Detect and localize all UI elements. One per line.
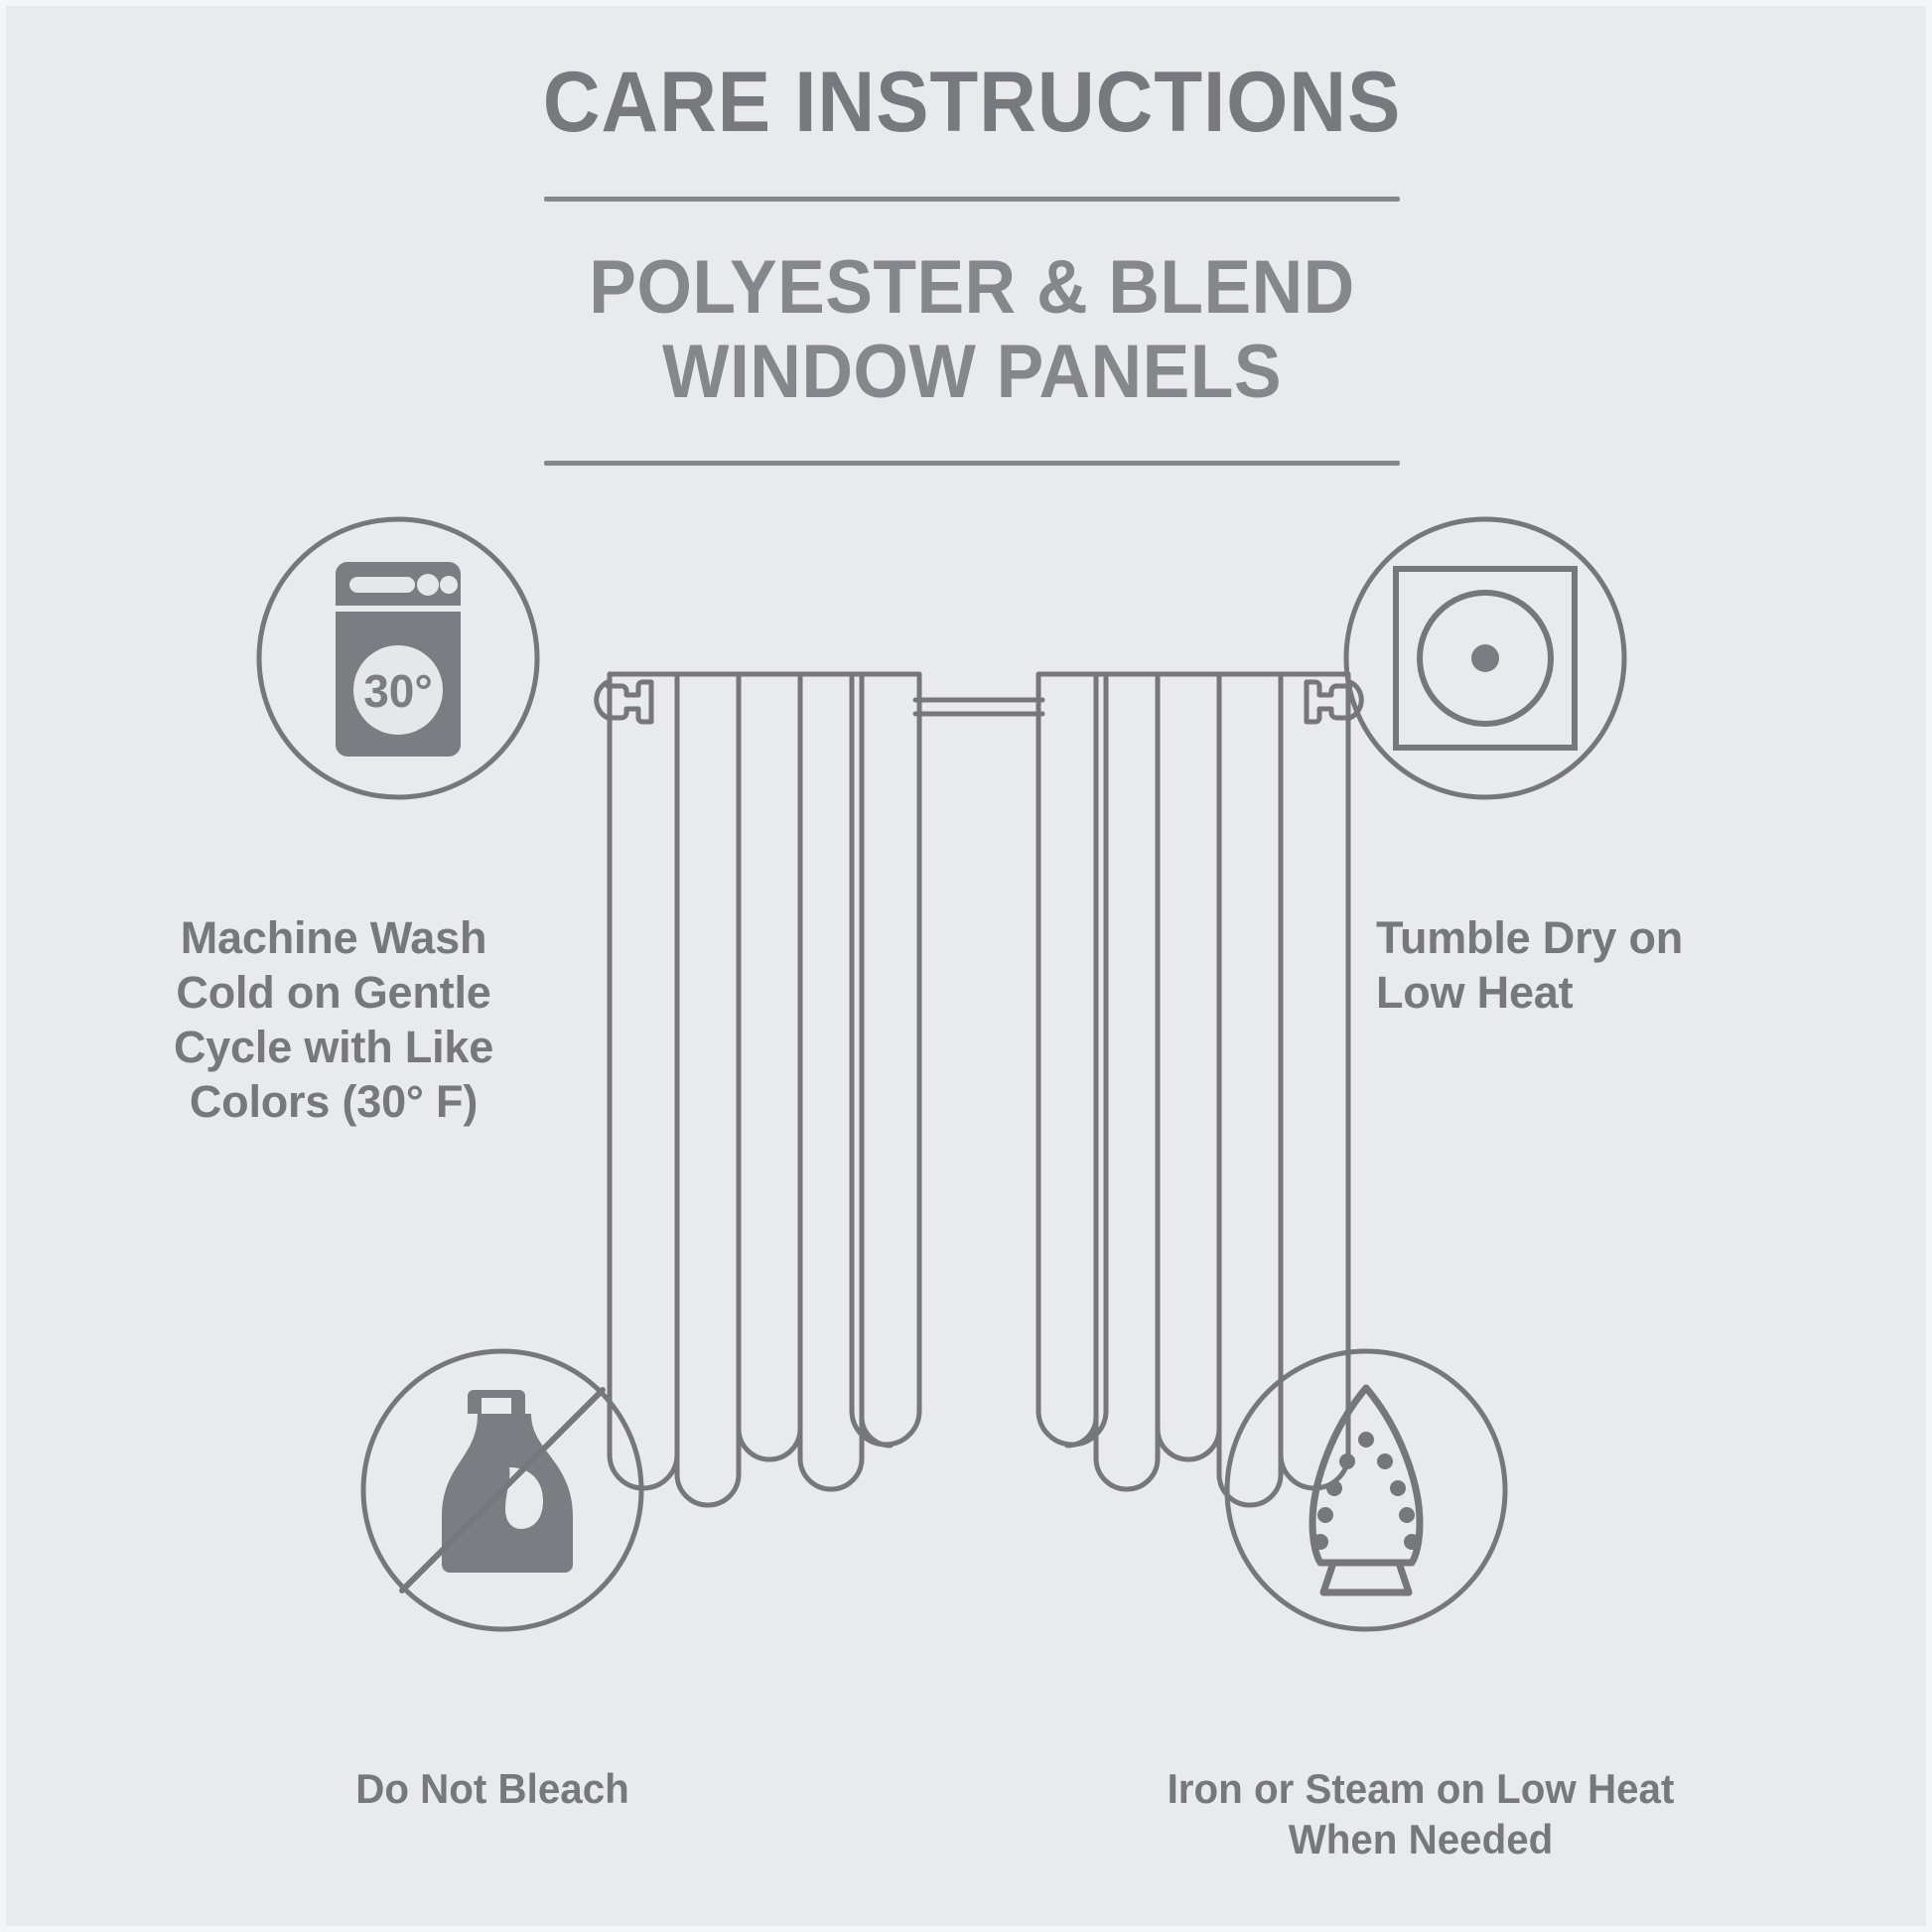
- caption-line: Colors (30° F): [95, 1075, 572, 1130]
- care-badge-iron: [1222, 1346, 1510, 1634]
- caption-iron: Iron or Steam on Low Heat When Needed: [1068, 1763, 1773, 1864]
- title-divider-bottom: [544, 461, 1400, 466]
- caption-do-not-bleach: Do Not Bleach: [254, 1763, 731, 1814]
- care-badge-machine-wash: 30°: [254, 514, 542, 802]
- caption-line: Tumble Dry on: [1376, 911, 1843, 966]
- title-divider-top: [544, 197, 1400, 202]
- wash-temperature-label: 30°: [363, 665, 433, 717]
- subtitle-line-2: WINDOW PANELS: [64, 330, 1879, 414]
- curtain-rod: [915, 700, 1042, 714]
- poster-header: CARE INSTRUCTIONS POLYESTER & BLEND WIND…: [6, 58, 1932, 466]
- caption-line: Low Heat: [1376, 966, 1843, 1021]
- caption-tumble-dry: Tumble Dry on Low Heat: [1376, 911, 1843, 1021]
- washing-machine-icon: [336, 562, 461, 757]
- care-badge-tumble-dry: [1341, 514, 1629, 802]
- caption-line: Cycle with Like: [95, 1021, 572, 1075]
- caption-line: When Needed: [1068, 1814, 1773, 1864]
- subtitle-line-1: POLYESTER & BLEND: [64, 245, 1879, 330]
- caption-line: Machine Wash: [95, 911, 572, 966]
- page-title: CARE INSTRUCTIONS: [73, 58, 1870, 147]
- caption-line: Iron or Steam on Low Heat: [1068, 1763, 1773, 1814]
- caption-machine-wash: Machine Wash Cold on Gentle Cycle with L…: [95, 911, 572, 1130]
- poster-subtitle: POLYESTER & BLEND WINDOW PANELS: [64, 245, 1879, 414]
- dryer-heat-dot: [1471, 644, 1499, 672]
- caption-line: Cold on Gentle: [95, 966, 572, 1021]
- care-instructions-poster: CARE INSTRUCTIONS POLYESTER & BLEND WIND…: [0, 0, 1932, 1932]
- finial-left: [597, 682, 651, 722]
- care-badge-do-not-bleach: [358, 1346, 646, 1634]
- curtain-panel-left: [610, 674, 919, 1505]
- caption-line: Do Not Bleach: [254, 1763, 731, 1814]
